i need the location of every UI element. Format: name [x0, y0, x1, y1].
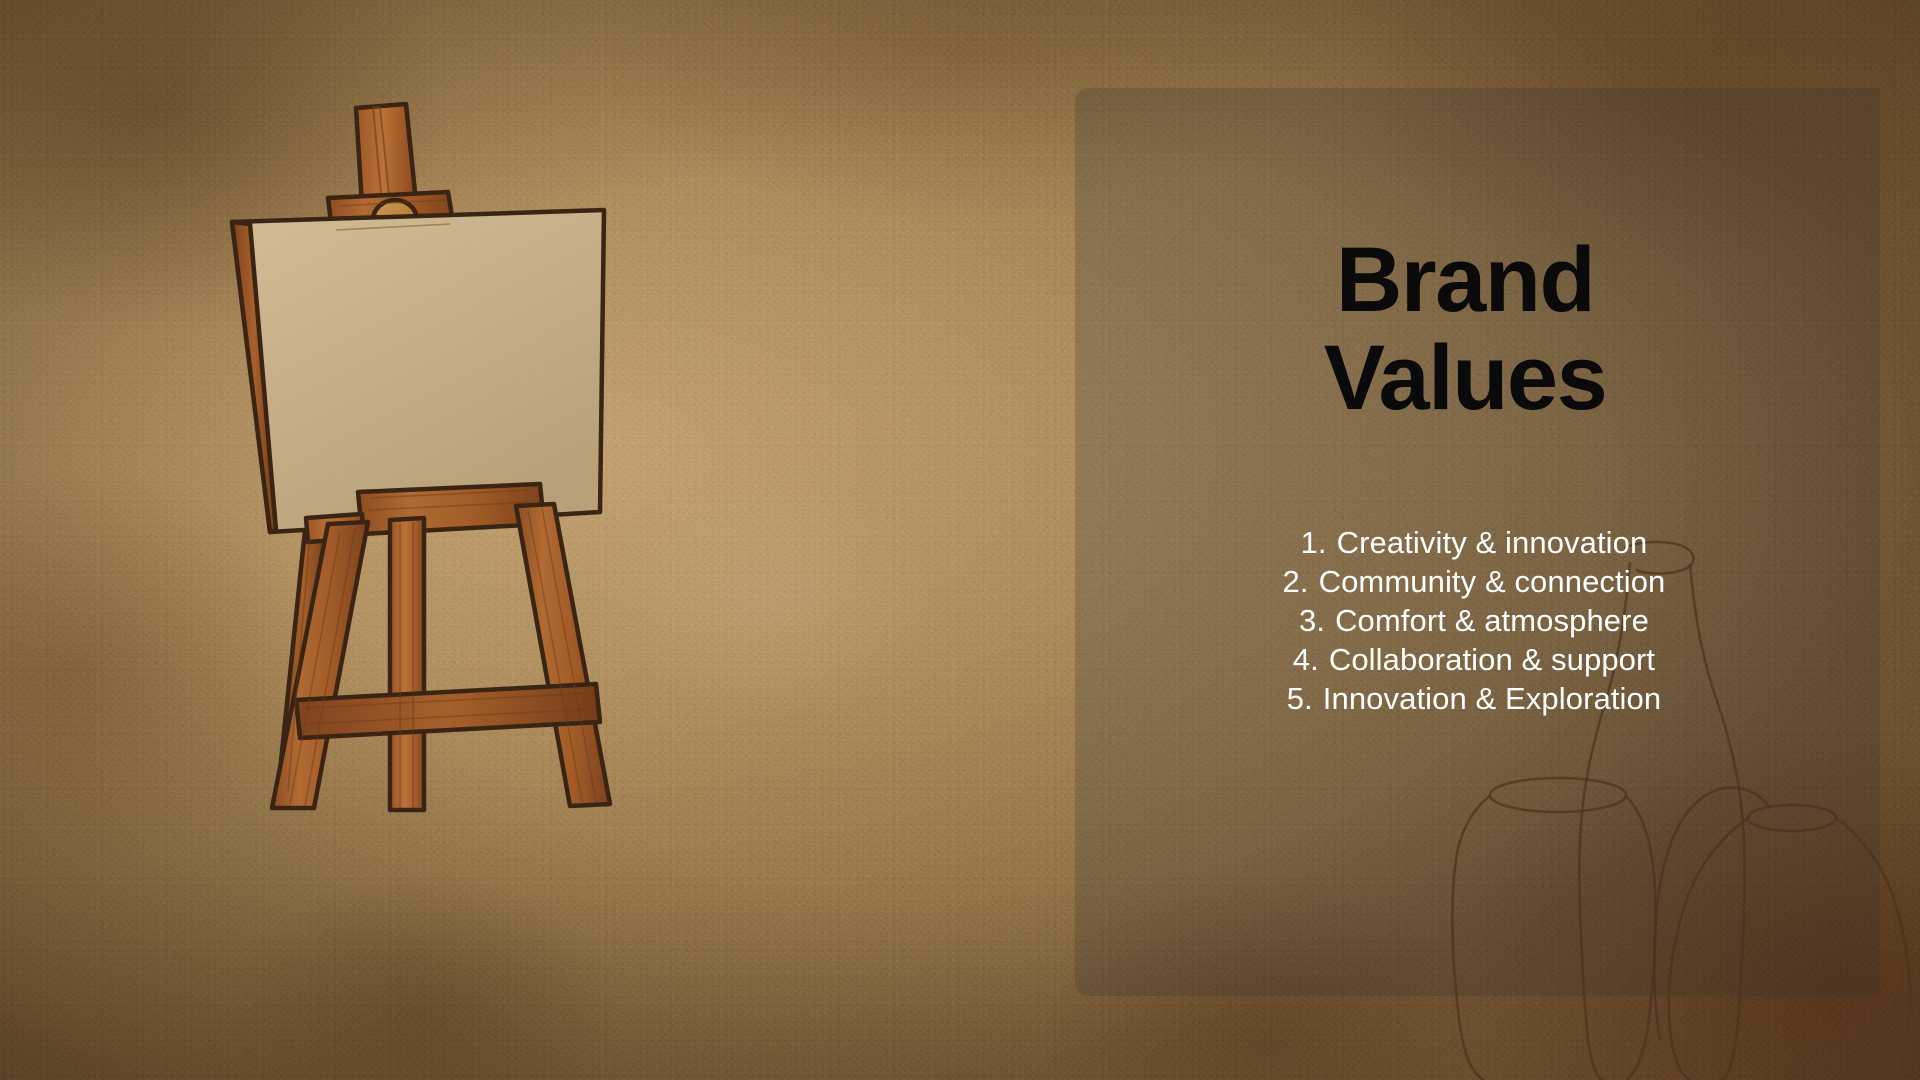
list-item-label: Collaboration & support: [1329, 640, 1655, 679]
easel-mast: [356, 104, 416, 206]
slide-canvas: Brand Values 1. Creativity & innovation …: [0, 0, 1920, 1080]
list-item: 3. Comfort & atmosphere: [1075, 601, 1865, 640]
easel-illustration: [210, 80, 680, 840]
list-item: 5. Innovation & Exploration: [1075, 679, 1865, 718]
list-item-number: 1.: [1293, 523, 1327, 562]
list-item-number: 2.: [1275, 562, 1309, 601]
list-item-number: 4.: [1285, 640, 1319, 679]
list-item-number: 5.: [1279, 679, 1313, 718]
page-title: Brand Values: [1075, 232, 1855, 427]
list-item: 2. Community & connection: [1075, 562, 1865, 601]
easel-front-left-leg: [272, 522, 368, 808]
page-title-line-2: Values: [1075, 330, 1855, 428]
list-item-label: Creativity & innovation: [1337, 523, 1648, 562]
easel-front-right-leg: [516, 504, 610, 806]
easel-center-leg: [390, 518, 424, 810]
list-item-label: Comfort & atmosphere: [1335, 601, 1649, 640]
brand-values-list: 1. Creativity & innovation 2. Community …: [1075, 523, 1865, 718]
blank-canvas: [232, 210, 604, 532]
list-item-number: 3.: [1291, 601, 1325, 640]
list-item: 4. Collaboration & support: [1075, 640, 1865, 679]
list-item-label: Innovation & Exploration: [1323, 679, 1661, 718]
list-item: 1. Creativity & innovation: [1075, 523, 1865, 562]
list-item-label: Community & connection: [1319, 562, 1666, 601]
page-title-line-1: Brand: [1075, 232, 1855, 330]
